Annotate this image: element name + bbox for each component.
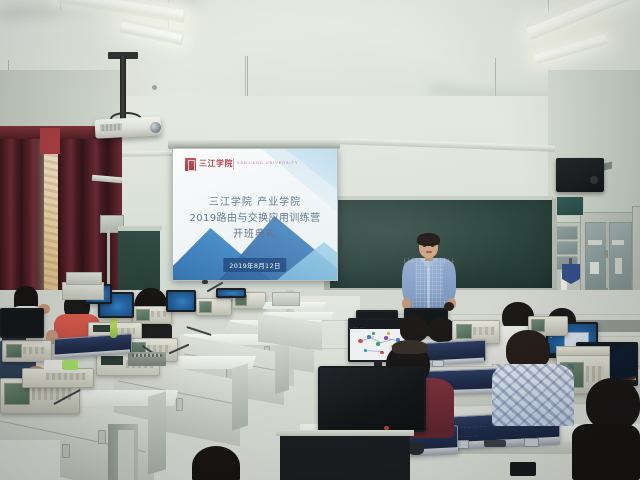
map-node (372, 332, 375, 335)
green-folder (62, 360, 78, 370)
lab-bench-side (232, 363, 248, 430)
conduit (107, 229, 110, 285)
wall-speaker-icon (556, 158, 604, 192)
presenter-mouth (426, 251, 432, 253)
cabinet-shelf-item (612, 240, 624, 245)
shirt-pattern (492, 364, 574, 426)
student-torso-foreground (572, 424, 640, 480)
case-latch[interactable] (524, 438, 539, 447)
monitor-foreground[interactable] (318, 366, 426, 432)
bench-foreground (0, 440, 60, 480)
oscilloscope-knobs (23, 347, 45, 354)
lab-bench-side (275, 342, 289, 395)
monitor[interactable] (216, 288, 246, 298)
presenter-eye (423, 245, 426, 247)
map-header-text: ···· ····· ····· (352, 326, 364, 334)
student-hair (392, 340, 428, 354)
cabinet-glass-door[interactable] (609, 222, 632, 290)
equipment-top (556, 346, 610, 356)
oscilloscope-screen (199, 301, 212, 313)
microphone-icon[interactable] (202, 280, 208, 284)
classroom-photo: 三江学院 SANJIANG UNIVERSITY 三江学院 产业学院 2019路… (0, 0, 640, 480)
oscilloscope-knobs (151, 311, 167, 317)
student-head-foreground (586, 378, 640, 430)
monitor-screen (168, 292, 194, 310)
presenter-arm-right (443, 262, 456, 302)
projection-screen: 三江学院 SANJIANG UNIVERSITY 三江学院 产业学院 2019路… (172, 148, 338, 281)
equipment-stack (66, 272, 102, 285)
cabinet-handle[interactable] (176, 398, 183, 411)
lab-bench-side (148, 391, 166, 475)
presenter-arm-left (402, 262, 415, 302)
monitor[interactable] (0, 308, 44, 338)
smartphone[interactable] (510, 462, 536, 476)
shirt-placket (427, 266, 430, 310)
generator-display (101, 356, 123, 365)
case-handle[interactable] (484, 440, 506, 447)
mouse[interactable] (408, 442, 424, 455)
cabinet-handle[interactable] (62, 444, 70, 458)
student-torso-patterned (492, 364, 574, 426)
circuit-pins (132, 354, 162, 357)
oscilloscope-screen (6, 344, 22, 358)
equipment-unit (272, 292, 300, 306)
desktop-icon[interactable] (550, 337, 552, 338)
ceiling-fitting (152, 85, 157, 90)
monitor-screen (320, 368, 424, 430)
presenter-eye (431, 245, 434, 247)
panel-slot (554, 241, 578, 255)
student-head-foreground (192, 446, 240, 480)
screen-glare (173, 149, 337, 280)
case-latch[interactable] (432, 360, 444, 367)
cabinet-handle[interactable] (98, 430, 106, 444)
desk-edge (276, 430, 414, 436)
presenter-fringe (418, 236, 439, 243)
projector-vent (100, 123, 122, 131)
cabinet-handle[interactable] (604, 250, 608, 258)
map-link (366, 350, 382, 352)
generator-knobs (46, 373, 86, 380)
student-head (444, 302, 454, 311)
oscilloscope-screen (136, 309, 150, 321)
bench-shelf (118, 430, 134, 480)
oscilloscope-knobs (473, 327, 495, 335)
side-chalkboard (118, 228, 160, 297)
board-frame (118, 226, 162, 230)
monitor-screen (218, 290, 244, 296)
student-head (400, 316, 428, 342)
monitor-screen (2, 310, 42, 336)
cabinet-shelf-item (590, 262, 599, 274)
map-node (387, 332, 390, 335)
panel-slot (554, 226, 578, 240)
oscilloscope-screen (456, 324, 472, 339)
slide: 三江学院 SANJIANG UNIVERSITY 三江学院 产业学院 2019路… (173, 149, 337, 280)
desk-front-panel (280, 434, 410, 480)
generator-display (93, 325, 111, 332)
cabinet-shelf-item (588, 240, 602, 245)
monitor[interactable] (166, 290, 196, 312)
curtain-valance-accent (40, 128, 60, 154)
notice-board (556, 196, 584, 216)
drink-bottle[interactable] (110, 318, 117, 338)
cabinet-shelf-item (615, 258, 622, 274)
